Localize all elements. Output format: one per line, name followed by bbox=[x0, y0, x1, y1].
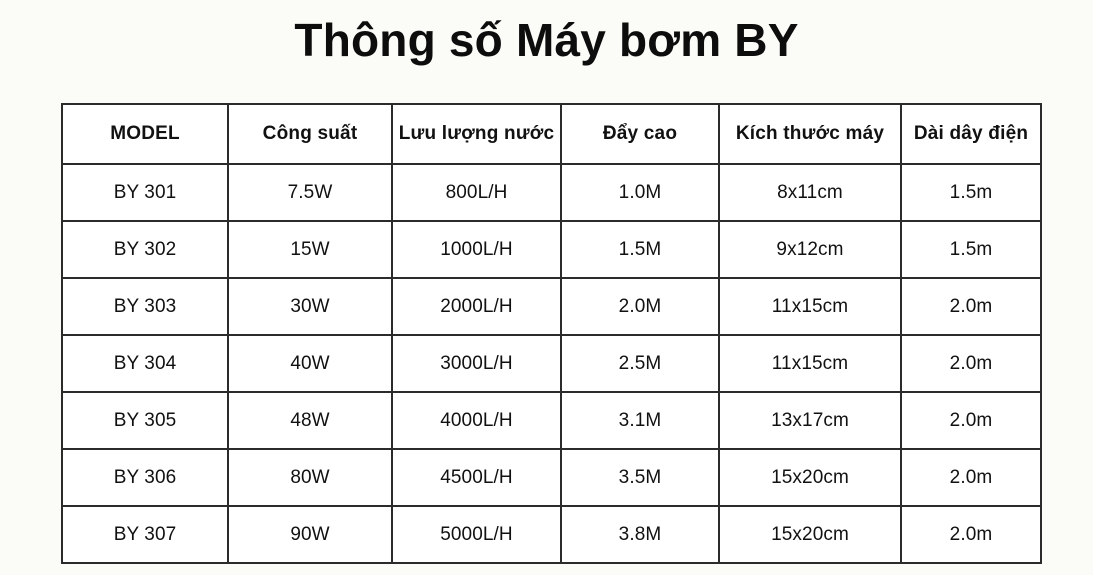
cell-model: BY 304 bbox=[62, 335, 228, 392]
table-row: BY 30790W5000L/H3.8M15x20cm2.0m bbox=[62, 506, 1041, 563]
cell-r4-c4: 13x17cm bbox=[719, 392, 901, 449]
cell-r1-c2: 1000L/H bbox=[392, 221, 561, 278]
cell-r1-c5: 1.5m bbox=[901, 221, 1041, 278]
cell-r5-c2: 4500L/H bbox=[392, 449, 561, 506]
cell-r2-c1: 30W bbox=[228, 278, 392, 335]
cell-r0-c2: 800L/H bbox=[392, 164, 561, 221]
cell-r5-c4: 15x20cm bbox=[719, 449, 901, 506]
cell-r1-c3: 1.5M bbox=[561, 221, 719, 278]
cell-r6-c2: 5000L/H bbox=[392, 506, 561, 563]
cell-r3-c3: 2.5M bbox=[561, 335, 719, 392]
cell-r0-c1: 7.5W bbox=[228, 164, 392, 221]
cell-model: BY 305 bbox=[62, 392, 228, 449]
column-header-5: Dài dây điện bbox=[901, 104, 1041, 164]
column-header-0: MODEL bbox=[62, 104, 228, 164]
cell-r3-c1: 40W bbox=[228, 335, 392, 392]
column-header-3: Đẩy cao bbox=[561, 104, 719, 164]
table-row: BY 30215W1000L/H1.5M9x12cm1.5m bbox=[62, 221, 1041, 278]
table-row: BY 30440W3000L/H2.5M11x15cm2.0m bbox=[62, 335, 1041, 392]
cell-r4-c2: 4000L/H bbox=[392, 392, 561, 449]
cell-r1-c4: 9x12cm bbox=[719, 221, 901, 278]
cell-r6-c4: 15x20cm bbox=[719, 506, 901, 563]
page-root: Thông số Máy bơm BY MODELCông suấtLưu lư… bbox=[0, 0, 1093, 575]
cell-r5-c1: 80W bbox=[228, 449, 392, 506]
table-row: BY 30680W4500L/H3.5M15x20cm2.0m bbox=[62, 449, 1041, 506]
column-header-4: Kích thước máy bbox=[719, 104, 901, 164]
cell-r0-c4: 8x11cm bbox=[719, 164, 901, 221]
cell-r5-c3: 3.5M bbox=[561, 449, 719, 506]
column-header-2: Lưu lượng nước bbox=[392, 104, 561, 164]
table-row: BY 3017.5W800L/H1.0M8x11cm1.5m bbox=[62, 164, 1041, 221]
cell-r1-c1: 15W bbox=[228, 221, 392, 278]
cell-r6-c5: 2.0m bbox=[901, 506, 1041, 563]
cell-r3-c2: 3000L/H bbox=[392, 335, 561, 392]
spec-table-container: MODELCông suấtLưu lượng nướcĐẩy caoKích … bbox=[61, 103, 1040, 549]
cell-r6-c3: 3.8M bbox=[561, 506, 719, 563]
cell-model: BY 307 bbox=[62, 506, 228, 563]
cell-r2-c4: 11x15cm bbox=[719, 278, 901, 335]
cell-r3-c4: 11x15cm bbox=[719, 335, 901, 392]
cell-model: BY 302 bbox=[62, 221, 228, 278]
cell-r4-c5: 2.0m bbox=[901, 392, 1041, 449]
cell-r4-c1: 48W bbox=[228, 392, 392, 449]
column-header-1: Công suất bbox=[228, 104, 392, 164]
cell-r3-c5: 2.0m bbox=[901, 335, 1041, 392]
page-title: Thông số Máy bơm BY bbox=[0, 14, 1093, 67]
cell-r4-c3: 3.1M bbox=[561, 392, 719, 449]
table-header-row: MODELCông suấtLưu lượng nướcĐẩy caoKích … bbox=[62, 104, 1041, 164]
cell-model: BY 303 bbox=[62, 278, 228, 335]
cell-r2-c5: 2.0m bbox=[901, 278, 1041, 335]
cell-r2-c2: 2000L/H bbox=[392, 278, 561, 335]
table-row: BY 30330W2000L/H2.0M11x15cm2.0m bbox=[62, 278, 1041, 335]
cell-model: BY 301 bbox=[62, 164, 228, 221]
cell-r2-c3: 2.0M bbox=[561, 278, 719, 335]
cell-r0-c5: 1.5m bbox=[901, 164, 1041, 221]
cell-r0-c3: 1.0M bbox=[561, 164, 719, 221]
table-row: BY 30548W4000L/H3.1M13x17cm2.0m bbox=[62, 392, 1041, 449]
cell-r5-c5: 2.0m bbox=[901, 449, 1041, 506]
cell-r6-c1: 90W bbox=[228, 506, 392, 563]
cell-model: BY 306 bbox=[62, 449, 228, 506]
pump-specifications-table: MODELCông suấtLưu lượng nướcĐẩy caoKích … bbox=[61, 103, 1042, 564]
